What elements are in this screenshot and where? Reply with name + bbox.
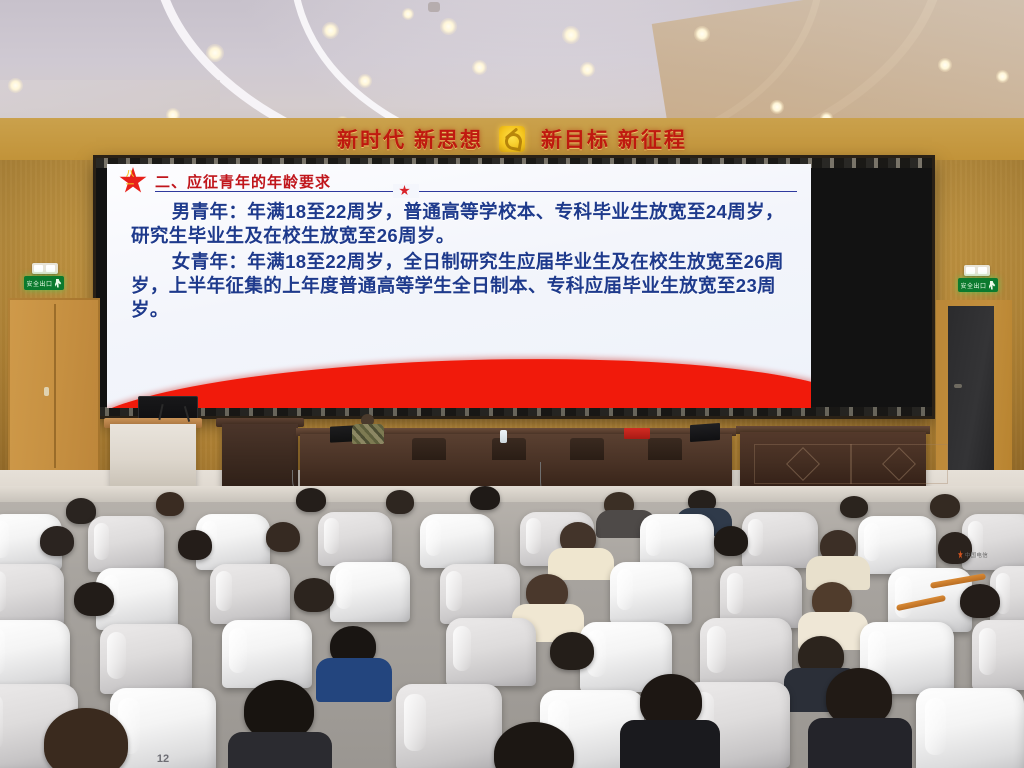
table-panel	[754, 444, 852, 484]
exit-sign-right: 安全出口	[958, 278, 998, 292]
speaker-lectern	[110, 424, 196, 488]
wooden-podium	[222, 424, 298, 490]
auditorium-seat[interactable]	[972, 620, 1024, 690]
table-panel	[850, 444, 948, 484]
table-laptop[interactable]	[690, 423, 720, 442]
slide-paragraph-male: 男青年：年满18至22周岁，普通高等学校本、专科毕业生放宽至24周岁，研究生毕业…	[131, 200, 789, 248]
auditorium-seat[interactable]	[0, 564, 64, 626]
running-man-exit-icon	[989, 281, 996, 290]
ceiling-downlight	[694, 26, 710, 42]
attendee-head	[244, 680, 314, 740]
attendee-head	[550, 632, 594, 670]
attendee-torso	[548, 548, 614, 580]
exit-sign-text: 安全出口	[960, 281, 986, 290]
emergency-light	[964, 265, 990, 276]
slide-title: 二、应征青年的年龄要求	[155, 171, 331, 192]
auditorium-seat[interactable]	[396, 684, 502, 768]
chair-logo-text: 中国电信	[965, 551, 988, 559]
attendee-head	[296, 488, 326, 512]
attendee-head	[938, 532, 972, 564]
red-star-icon: 八一	[119, 167, 147, 195]
auditorium-seat[interactable]	[446, 618, 536, 686]
ceiling-downlight	[472, 60, 487, 75]
attendee-head	[74, 582, 114, 616]
attendee-head	[714, 526, 748, 556]
ceiling-downlight	[8, 78, 23, 93]
emergency-light	[32, 263, 58, 274]
attendee-head	[840, 496, 868, 518]
presentation-slide: 八一 二、应征青年的年龄要求 男青年：年满18至22周岁，普通高等学校本、专科毕…	[107, 164, 811, 408]
auditorium-seat[interactable]	[330, 562, 410, 622]
led-wall-bottom-trim	[96, 407, 932, 416]
auditorium-photo: 新时代 新思想 新目标 新征程 八一 二、应征青年的年龄要求 男青年：年满18至…	[0, 0, 1024, 768]
auditorium-seat[interactable]	[742, 512, 818, 568]
attendee-head	[930, 494, 960, 518]
left-door-handle-icon[interactable]	[44, 387, 49, 396]
ceiling-downlight	[938, 58, 952, 72]
slide-body: 男青年：年满18至22周岁，普通高等学校本、专科毕业生放宽至24周岁，研究生毕业…	[107, 198, 811, 322]
wall-banner: 新时代 新思想 新目标 新征程	[0, 118, 1024, 160]
ceiling-downlight	[322, 22, 339, 39]
stage-chair-back	[648, 438, 682, 460]
auditorium-seat[interactable]	[962, 514, 1024, 570]
red-name-card	[624, 428, 650, 439]
stage-chair-back	[570, 438, 604, 460]
attendee-head	[40, 526, 74, 556]
right-door-handle-icon[interactable]	[954, 384, 962, 388]
attendee-head	[156, 492, 184, 516]
slide-header: 八一 二、应征青年的年龄要求	[107, 164, 811, 198]
auditorium-seat[interactable]	[0, 620, 70, 690]
ceiling-downlight	[440, 18, 457, 35]
running-man-exit-icon	[55, 279, 62, 288]
seat-number-label: 12	[157, 753, 169, 765]
auditorium-seat[interactable]	[440, 564, 520, 624]
attendee-head	[178, 530, 212, 560]
banner-text-left: 新时代 新思想	[337, 124, 483, 154]
aisle-floor	[0, 486, 1024, 502]
attendee-torso	[808, 718, 912, 768]
attendee-head	[44, 708, 128, 768]
auditorium-seat[interactable]	[640, 514, 714, 568]
auditorium-seat[interactable]	[88, 516, 164, 572]
left-double-door[interactable]	[8, 298, 100, 474]
banner-text-right: 新目标 新征程	[541, 124, 687, 154]
attendee-torso	[620, 720, 720, 768]
military-uniform-presenter	[352, 414, 384, 442]
auditorium-seat[interactable]	[700, 618, 792, 688]
chair-cover-logo: 中国电信	[958, 550, 988, 559]
attendee-torso	[316, 658, 392, 702]
ceiling-downlight	[996, 70, 1009, 83]
presenter-camouflage-uniform	[352, 424, 384, 444]
ceiling-downlight	[770, 100, 784, 114]
auditorium-seat[interactable]	[222, 620, 312, 688]
right-open-doorway[interactable]	[948, 306, 994, 474]
telecom-star-icon	[958, 550, 963, 559]
exit-sign-text: 安全出口	[26, 279, 52, 288]
attendee-head	[960, 584, 1000, 618]
attendee-head	[294, 578, 334, 612]
ceiling-projector-mount	[428, 2, 440, 12]
attendee-head	[470, 486, 500, 510]
hammer-sickle-emblem-icon	[499, 126, 525, 152]
auditorium-seat[interactable]	[610, 562, 692, 624]
auditorium-seat[interactable]	[210, 564, 290, 624]
ceiling-downlight	[562, 26, 580, 44]
ceiling-downlight	[358, 74, 372, 88]
auditorium-seat[interactable]	[100, 624, 192, 694]
ceiling-downlight	[580, 62, 595, 77]
attendee-head	[386, 490, 414, 514]
slide-title-rule	[155, 191, 797, 192]
attendee-torso	[228, 732, 332, 768]
auditorium-seat[interactable]	[916, 688, 1024, 768]
slide-paragraph-female: 女青年：年满18至22周岁，全日制研究生应届毕业生及在校生放宽至26周岁，上半年…	[131, 250, 789, 322]
water-bottle	[500, 430, 507, 443]
attendee-head	[266, 522, 300, 552]
stage-chair-back	[412, 438, 446, 460]
ceiling-downlight	[206, 44, 224, 62]
stage-chair-back	[492, 438, 526, 460]
auditorium-seat[interactable]	[420, 514, 494, 568]
auditorium-seat[interactable]	[858, 516, 936, 574]
exit-sign-left: 安全出口	[24, 276, 64, 290]
star-mark-label: 八一	[126, 168, 140, 190]
slide-accent-swoosh	[107, 349, 811, 408]
audience-seating-area: 12 中国电信	[0, 486, 1024, 768]
ceiling-downlight	[402, 8, 414, 20]
side-table	[740, 432, 926, 490]
auditorium-seat[interactable]	[318, 512, 392, 566]
